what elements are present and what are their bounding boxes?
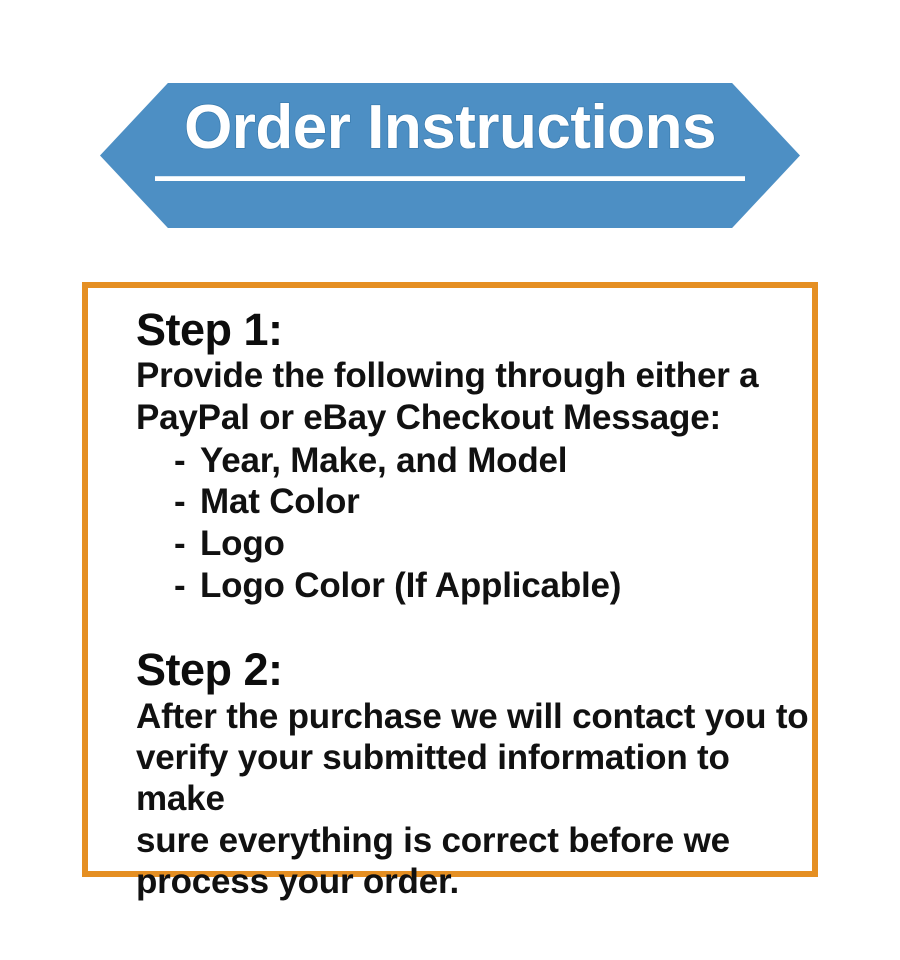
bullet-label: Year, Make, and Model	[200, 441, 567, 480]
step-1-block: Step 1: Provide the following through ei…	[136, 306, 812, 606]
dash-bullet-icon: -	[174, 440, 200, 482]
step-2-heading: Step 2:	[136, 646, 812, 693]
step-1-line-2: PayPal or eBay Checkout Message:	[136, 397, 812, 438]
step-1-heading: Step 1:	[136, 306, 812, 353]
dash-bullet-icon: -	[174, 523, 200, 565]
banner-underline-rule	[155, 176, 745, 181]
order-instructions-banner: Order Instructions	[100, 83, 800, 228]
step-1-bullet-list: -Year, Make, and Model -Mat Color -Logo …	[136, 440, 812, 607]
instructions-panel: Step 1: Provide the following through ei…	[82, 282, 818, 877]
list-item: -Year, Make, and Model	[174, 440, 812, 482]
bullet-label: Mat Color	[200, 482, 360, 521]
step-1-body: Provide the following through either a P…	[136, 355, 812, 438]
step-2-body: After the purchase we will contact you t…	[136, 696, 812, 902]
step-2-line-3: sure everything is correct before we	[136, 820, 812, 861]
dash-bullet-icon: -	[174, 565, 200, 607]
list-item: -Mat Color	[174, 481, 812, 523]
step-2-line-4: process your order.	[136, 861, 812, 902]
step-2-line-2: verify your submitted information to mak…	[136, 737, 812, 820]
step-2-block: Step 2: After the purchase we will conta…	[136, 646, 812, 902]
dash-bullet-icon: -	[174, 481, 200, 523]
step-2-line-1: After the purchase we will contact you t…	[136, 696, 812, 737]
instructions-content: Step 1: Provide the following through ei…	[88, 288, 812, 902]
list-item: -Logo	[174, 523, 812, 565]
bullet-label: Logo	[200, 524, 285, 563]
list-item: -Logo Color (If Applicable)	[174, 565, 812, 607]
bullet-label: Logo Color (If Applicable)	[200, 566, 621, 605]
banner-title: Order Instructions	[100, 97, 800, 159]
step-1-line-1: Provide the following through either a	[136, 355, 812, 396]
